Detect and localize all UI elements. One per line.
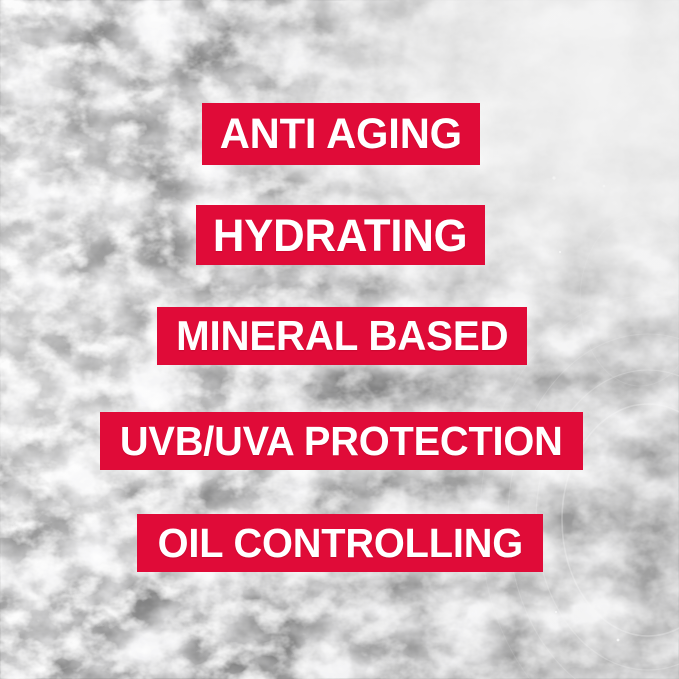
benefit-label-anti-aging: ANTI AGING (220, 113, 462, 156)
benefit-bar-mineral-based: MINERAL BASED (157, 307, 527, 365)
benefit-bar-oil-controlling: OIL CONTROLLING (137, 514, 543, 572)
benefit-label-mineral-based: MINERAL BASED (176, 315, 508, 357)
benefit-bar-hydrating: HYDRATING (196, 205, 485, 265)
benefit-label-uvb-uva-protection: UVB/UVA PROTECTION (120, 421, 563, 462)
benefit-label-oil-controlling: OIL CONTROLLING (157, 523, 522, 564)
benefit-bar-anti-aging: ANTI AGING (202, 103, 480, 165)
benefit-bar-stack: ANTI AGING HYDRATING MINERAL BASED UVB/U… (0, 0, 679, 679)
benefit-bar-uvb-uva-protection: UVB/UVA PROTECTION (100, 412, 583, 470)
product-benefit-banner: ANTI AGING HYDRATING MINERAL BASED UVB/U… (0, 0, 679, 679)
benefit-label-hydrating: HYDRATING (213, 213, 467, 258)
